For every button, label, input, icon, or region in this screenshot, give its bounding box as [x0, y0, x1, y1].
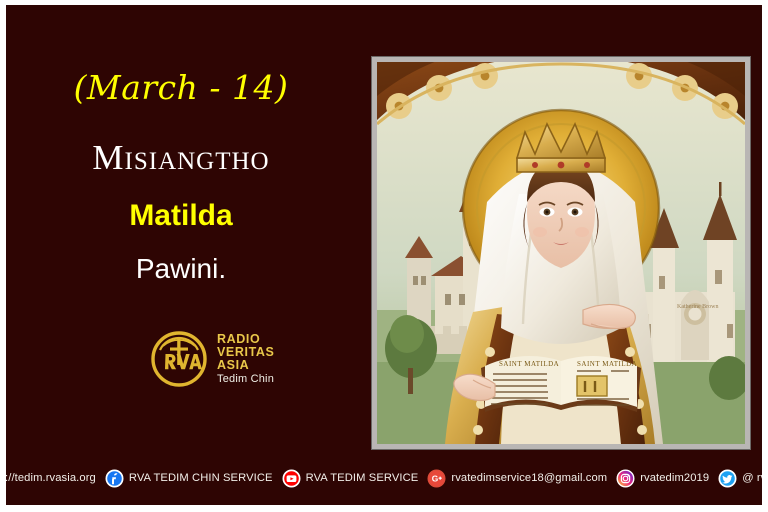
rva-circular-cross-logo-icon	[150, 330, 208, 388]
footer-item-twitter[interactable]: @ rva Tedim	[718, 469, 762, 488]
page-subtitle: Pawini.	[6, 255, 356, 283]
logo-line-service: Tedim Chin	[217, 374, 274, 385]
poster-canvas: (March - 14) Misiangtho Matilda Pawini.	[6, 5, 762, 505]
social-footer: HTTP http://tedim.rvasia.org RVA TEDIM C…	[6, 451, 762, 505]
google-plus-icon: G	[427, 469, 446, 488]
rva-logo-wordmark: RADIO VERITAS ASIA Tedim Chin	[217, 332, 274, 385]
twitter-icon	[718, 469, 737, 488]
footer-label-twitter: @ rva Tedim	[742, 472, 762, 484]
logo-line-asia: ASIA	[217, 359, 274, 372]
footer-item-youtube[interactable]: RVA TEDIM SERVICE	[282, 469, 419, 488]
instagram-icon	[616, 469, 635, 488]
footer-item-instagram[interactable]: rvatedim2019	[616, 469, 709, 488]
poster-root: (March - 14) Misiangtho Matilda Pawini.	[0, 0, 768, 512]
svg-text:SAINT MATILDA: SAINT MATILDA	[499, 360, 559, 368]
svg-text:G: G	[432, 473, 439, 483]
page-title: Misiangtho	[6, 140, 356, 175]
footer-label-facebook: RVA TEDIM CHIN SERVICE	[129, 472, 273, 484]
footer-label-website: http://tedim.rvasia.org	[6, 472, 96, 484]
footer-label-youtube: RVA TEDIM SERVICE	[306, 472, 419, 484]
footer-item-email[interactable]: G rvatedimservice18@gmail.com	[427, 469, 607, 488]
footer-item-website[interactable]: HTTP http://tedim.rvasia.org	[6, 469, 96, 488]
svg-text:SAINT MATILDA: SAINT MATILDA	[577, 360, 637, 368]
footer-item-facebook[interactable]: RVA TEDIM CHIN SERVICE	[105, 469, 273, 488]
svg-text:Katherine Brown: Katherine Brown	[677, 304, 719, 310]
feast-date: (March - 14)	[6, 71, 356, 104]
facebook-icon	[105, 469, 124, 488]
rva-logo: RADIO VERITAS ASIA Tedim Chin	[150, 330, 274, 388]
saint-illustration: SAINT MATILDA SAINT MATILDA Katherine Br…	[377, 62, 745, 444]
footer-label-instagram: rvatedim2019	[640, 472, 709, 484]
youtube-icon	[282, 469, 301, 488]
saint-illustration-frame: SAINT MATILDA SAINT MATILDA Katherine Br…	[372, 57, 750, 449]
footer-label-email: rvatedimservice18@gmail.com	[451, 472, 607, 484]
saint-name: Matilda	[6, 201, 356, 231]
